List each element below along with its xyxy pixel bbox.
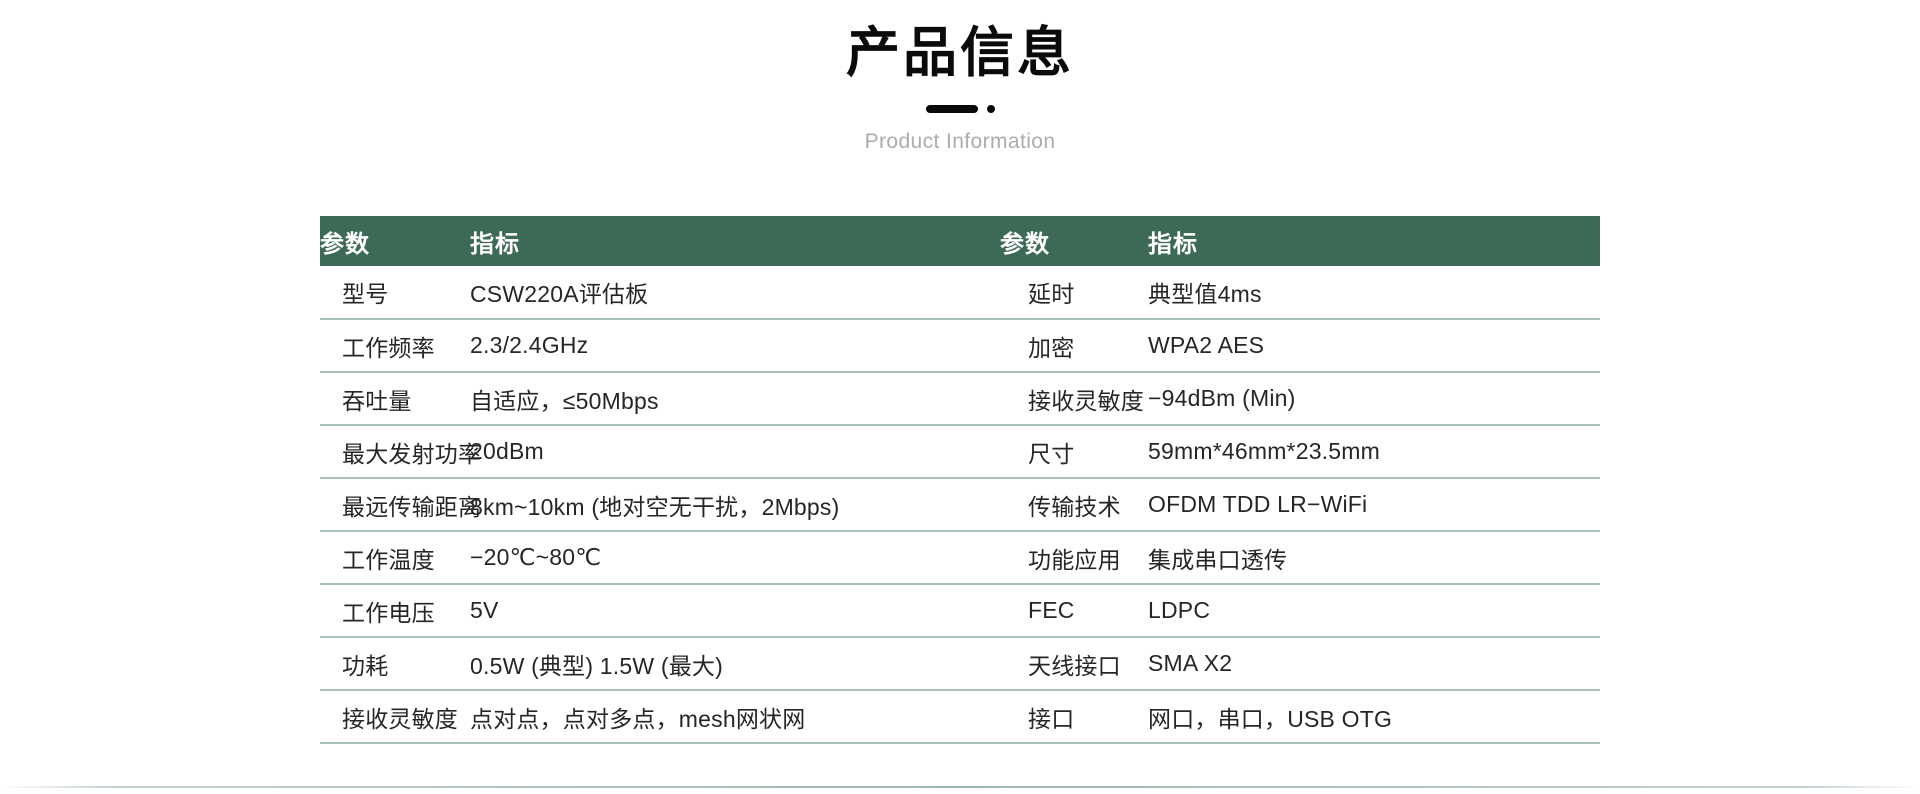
cell-param-right: 接口	[1000, 690, 1148, 743]
table-row: 接收灵敏度 点对点，点对多点，mesh网状网 接口 网口，串口，USB OTG	[320, 690, 1600, 743]
table-row: 工作温度 −20℃~80℃ 功能应用 集成串口透传	[320, 531, 1600, 584]
cell-spec-left: 0.5W (典型) 1.5W (最大)	[470, 637, 1000, 690]
cell-spec-left: 8km~10km (地对空无干扰，2Mbps)	[470, 478, 1000, 531]
page-subtitle: Product Information	[0, 130, 1920, 154]
table-row: 最大发射功率 20dBm 尺寸 59mm*46mm*23.5mm	[320, 425, 1600, 478]
page-title: 产品信息	[0, 22, 1920, 86]
column-header-param-right: 参数	[1000, 216, 1148, 266]
cell-spec-left: −20℃~80℃	[470, 531, 1000, 584]
cell-spec-right: LDPC	[1148, 584, 1600, 637]
cell-param-right: 接收灵敏度	[1000, 372, 1148, 425]
table-header-row: 参数 指标 参数 指标	[320, 216, 1600, 266]
column-header-param-left: 参数	[320, 216, 470, 266]
cell-param-right: 传输技术	[1000, 478, 1148, 531]
cell-spec-right: 典型值4ms	[1148, 266, 1600, 319]
cell-param-right: 尺寸	[1000, 425, 1148, 478]
table-row: 工作频率 2.3/2.4GHz 加密 WPA2 AES	[320, 319, 1600, 372]
column-header-spec-right: 指标	[1148, 216, 1600, 266]
cell-spec-left: 自适应，≤50Mbps	[470, 372, 1000, 425]
divider-dash	[926, 105, 978, 113]
cell-param-left: 工作频率	[320, 319, 470, 372]
cell-param-left: 最远传输距离	[320, 478, 470, 531]
page-bottom-divider	[0, 786, 1920, 788]
cell-param-right: 功能应用	[1000, 531, 1148, 584]
cell-spec-left: 5V	[470, 584, 1000, 637]
table-body: 型号 CSW220A评估板 延时 典型值4ms 工作频率 2.3/2.4GHz …	[320, 266, 1600, 743]
cell-spec-right: SMA X2	[1148, 637, 1600, 690]
cell-param-right: 延时	[1000, 266, 1148, 319]
cell-spec-left: 2.3/2.4GHz	[470, 319, 1000, 372]
table-row: 最远传输距离 8km~10km (地对空无干扰，2Mbps) 传输技术 OFDM…	[320, 478, 1600, 531]
cell-param-right: 加密	[1000, 319, 1148, 372]
cell-spec-right: 集成串口透传	[1148, 531, 1600, 584]
cell-spec-right: OFDM TDD LR−WiFi	[1148, 478, 1600, 531]
cell-spec-right: 网口，串口，USB OTG	[1148, 690, 1600, 743]
cell-param-right: FEC	[1000, 584, 1148, 637]
column-header-spec-left: 指标	[470, 216, 1000, 266]
table-row: 吞吐量 自适应，≤50Mbps 接收灵敏度 −94dBm (Min)	[320, 372, 1600, 425]
cell-param-left: 工作温度	[320, 531, 470, 584]
page-header: 产品信息 Product Information	[0, 0, 1920, 154]
cell-param-left: 功耗	[320, 637, 470, 690]
cell-param-right: 天线接口	[1000, 637, 1148, 690]
cell-spec-left: 点对点，点对多点，mesh网状网	[470, 690, 1000, 743]
cell-spec-right: 59mm*46mm*23.5mm	[1148, 425, 1600, 478]
product-spec-table-container: 参数 指标 参数 指标 型号 CSW220A评估板 延时 典型值4ms 工作频率…	[320, 216, 1600, 744]
table-row: 功耗 0.5W (典型) 1.5W (最大) 天线接口 SMA X2	[320, 637, 1600, 690]
cell-param-left: 型号	[320, 266, 470, 319]
dash-dot-divider-icon	[0, 104, 1920, 114]
cell-spec-right: WPA2 AES	[1148, 319, 1600, 372]
cell-spec-left: 20dBm	[470, 425, 1000, 478]
cell-spec-left: CSW220A评估板	[470, 266, 1000, 319]
divider-dot	[987, 105, 995, 113]
table-header: 参数 指标 参数 指标	[320, 216, 1600, 266]
cell-param-left: 吞吐量	[320, 372, 470, 425]
cell-param-left: 接收灵敏度	[320, 690, 470, 743]
cell-param-left: 最大发射功率	[320, 425, 470, 478]
cell-param-left: 工作电压	[320, 584, 470, 637]
cell-spec-right: −94dBm (Min)	[1148, 372, 1600, 425]
table-row: 型号 CSW220A评估板 延时 典型值4ms	[320, 266, 1600, 319]
product-spec-table: 参数 指标 参数 指标 型号 CSW220A评估板 延时 典型值4ms 工作频率…	[320, 216, 1600, 744]
table-row: 工作电压 5V FEC LDPC	[320, 584, 1600, 637]
